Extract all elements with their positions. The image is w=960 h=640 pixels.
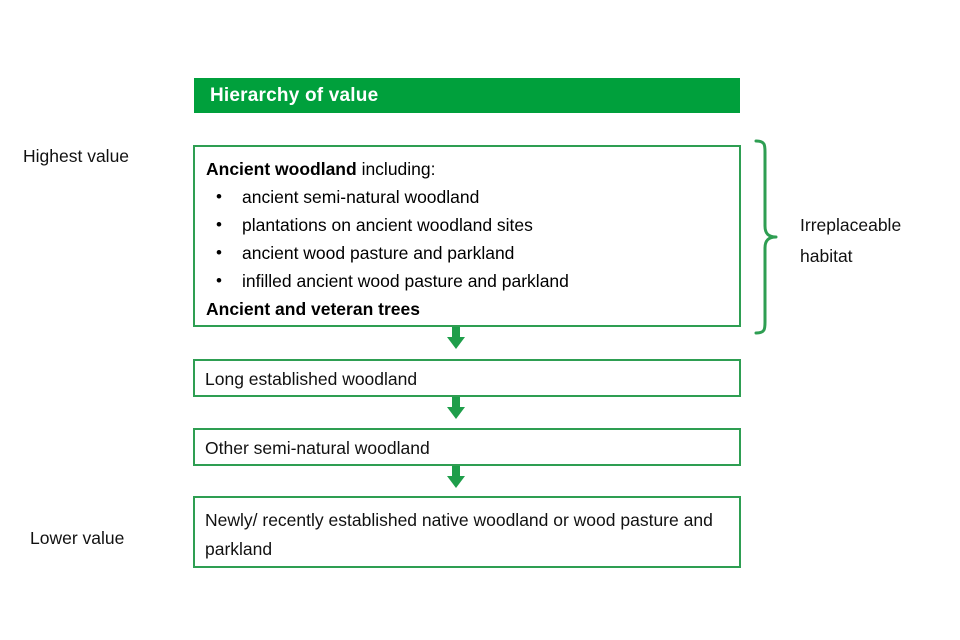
tier-label-newly-established: Newly/ recently established native woodl…: [205, 506, 729, 564]
bullet-dot-icon: •: [216, 183, 222, 211]
tier-box-newly-established: Newly/ recently established native woodl…: [193, 496, 741, 568]
tier-label-long-established: Long established woodland: [205, 366, 729, 392]
list-item: • infilled ancient wood pasture and park…: [205, 267, 729, 295]
tier-label-other-semi-natural: Other semi-natural woodland: [205, 435, 729, 461]
label-highest-value: Highest value: [23, 146, 129, 167]
bracket-caption-line-2: habitat: [800, 241, 952, 272]
ancient-veteran-trees-line: Ancient and veteran trees: [205, 295, 729, 323]
list-item-label: ancient semi-natural woodland: [242, 187, 479, 207]
hierarchy-header-title: Hierarchy of value: [194, 85, 378, 107]
ancient-woodland-bullet-list: • ancient semi-natural woodland • planta…: [205, 183, 729, 295]
tier-box-other-semi-natural: Other semi-natural woodland: [193, 428, 741, 466]
arrow-down-icon: [444, 327, 468, 351]
arrow-down-icon: [444, 397, 468, 421]
list-item: • ancient wood pasture and parkland: [205, 239, 729, 267]
bullet-dot-icon: •: [216, 267, 222, 295]
tier-box-long-established: Long established woodland: [193, 359, 741, 397]
list-item: • plantations on ancient woodland sites: [205, 211, 729, 239]
ancient-woodland-lead-rest: including:: [357, 159, 436, 179]
ancient-woodland-lead-line: Ancient woodland including:: [205, 155, 729, 183]
curly-brace-icon: [752, 138, 784, 336]
bullet-dot-icon: •: [216, 239, 222, 267]
label-lower-value: Lower value: [30, 528, 124, 549]
hierarchy-header-bar: Hierarchy of value: [194, 78, 740, 113]
tier-box-ancient-woodland: Ancient woodland including: • ancient se…: [193, 145, 741, 327]
bracket-caption-irreplaceable-habitat: Irreplaceable habitat: [800, 210, 952, 272]
bullet-dot-icon: •: [216, 211, 222, 239]
list-item-label: ancient wood pasture and parkland: [242, 243, 514, 263]
ancient-woodland-lead-bold: Ancient woodland: [206, 159, 357, 179]
list-item: • ancient semi-natural woodland: [205, 183, 729, 211]
arrow-down-icon: [444, 466, 468, 490]
list-item-label: infilled ancient wood pasture and parkla…: [242, 271, 569, 291]
bracket-caption-line-1: Irreplaceable: [800, 210, 952, 241]
list-item-label: plantations on ancient woodland sites: [242, 215, 533, 235]
diagram-canvas: Hierarchy of value Ancient woodland incl…: [0, 0, 960, 640]
